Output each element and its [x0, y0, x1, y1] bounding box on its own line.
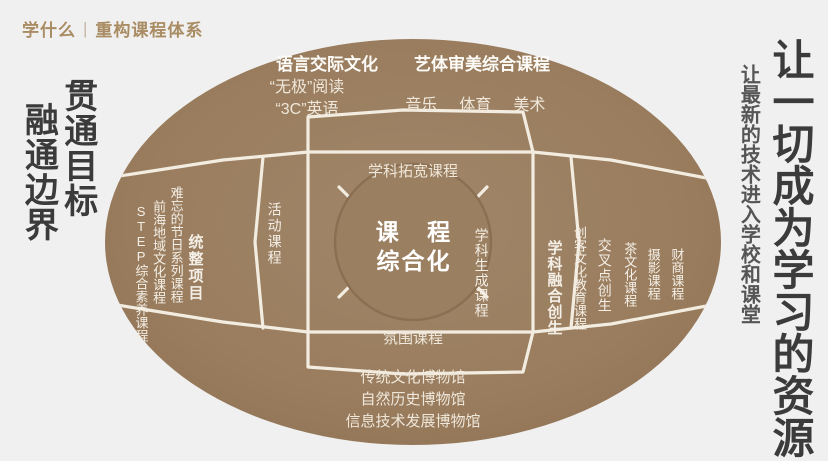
page-title-main: 学什么: [22, 16, 76, 41]
left-item-1: 前海地域文化课程: [151, 200, 166, 304]
bottom-band-label: 氛围课程: [103, 327, 723, 348]
title-separator: |: [83, 19, 88, 39]
bottom-item-1: 自然历史博物馆: [103, 389, 723, 411]
left-item-0: 难忘的节日系列课程: [168, 186, 183, 303]
top-right-item-1: 体育: [459, 97, 491, 114]
left-cluster: 统整项目 难忘的节日系列课程 前海地域文化课程 STEP综合素养课程: [133, 178, 210, 342]
right-headline-sub: 让最新的技术进入学校和课堂: [738, 64, 759, 324]
right-headline: 让最新的技术进入学校和课堂 让一切成为学习的资源: [738, 38, 812, 458]
left-headline-line1: 贯通目标: [59, 78, 94, 218]
right-headline-main: 让一切成为学习的资源: [768, 38, 812, 458]
right-item-2: 茶文化课程: [622, 242, 637, 307]
core-label-line1: 课 程: [365, 218, 461, 247]
top-left-item-1: “3C”英语: [270, 99, 345, 121]
right-item-0: 创客文化教育课程: [571, 226, 586, 330]
course-system-diagram: 语言交际文化艺体审美综合课程 “无极”阅读 “3C”英语 音乐体育美术 学科拓宽…: [103, 32, 723, 452]
left-item-2: STEP综合素养课程: [133, 204, 148, 342]
bottom-item-2: 信息技术发展博物馆: [103, 411, 723, 433]
right-inner-label: 学科生成课程: [473, 228, 489, 318]
core-label-line2: 综合化: [375, 247, 452, 276]
right-heading: 学科融合创生: [545, 240, 562, 336]
top-left-items: “无极”阅读 “3C”英语: [270, 77, 345, 121]
top-heading-right: 艺体审美综合课程: [414, 50, 550, 75]
left-headline: 贯通目标 融通边界: [20, 78, 95, 242]
top-heading-left: 语言交际文化: [276, 50, 378, 75]
bottom-item-0: 传统文化博物馆: [103, 367, 723, 389]
top-right-items: 音乐体育美术: [394, 77, 556, 121]
bottom-items: 传统文化博物馆 自然历史博物馆 信息技术发展博物馆: [103, 367, 723, 434]
left-headline-line2: 融通边界: [20, 102, 55, 242]
top-right-item-0: 音乐: [405, 97, 437, 114]
right-item-1: 交叉点创生: [596, 238, 612, 313]
top-items: “无极”阅读 “3C”英语 音乐体育美术: [103, 77, 723, 121]
right-item-4: 财商课程: [669, 248, 684, 300]
top-headings: 语言交际文化艺体审美综合课程: [103, 50, 723, 75]
right-item-3: 摄影课程: [645, 248, 660, 300]
right-cluster: 学科生成课程 学科融合创生 创客文化教育课程 交叉点创生 茶文化课程 摄影课程 …: [473, 180, 683, 336]
slide-canvas: 学什么 | 重构课程体系 贯通目标 融通边界 让最新的技术进入学校和课堂 让一切…: [0, 0, 828, 461]
top-right-item-2: 美术: [513, 97, 545, 114]
left-heading: 统整项目: [186, 234, 203, 302]
left-inner-label: 活动课程: [266, 202, 282, 266]
top-left-item-0: “无极”阅读: [270, 77, 345, 99]
